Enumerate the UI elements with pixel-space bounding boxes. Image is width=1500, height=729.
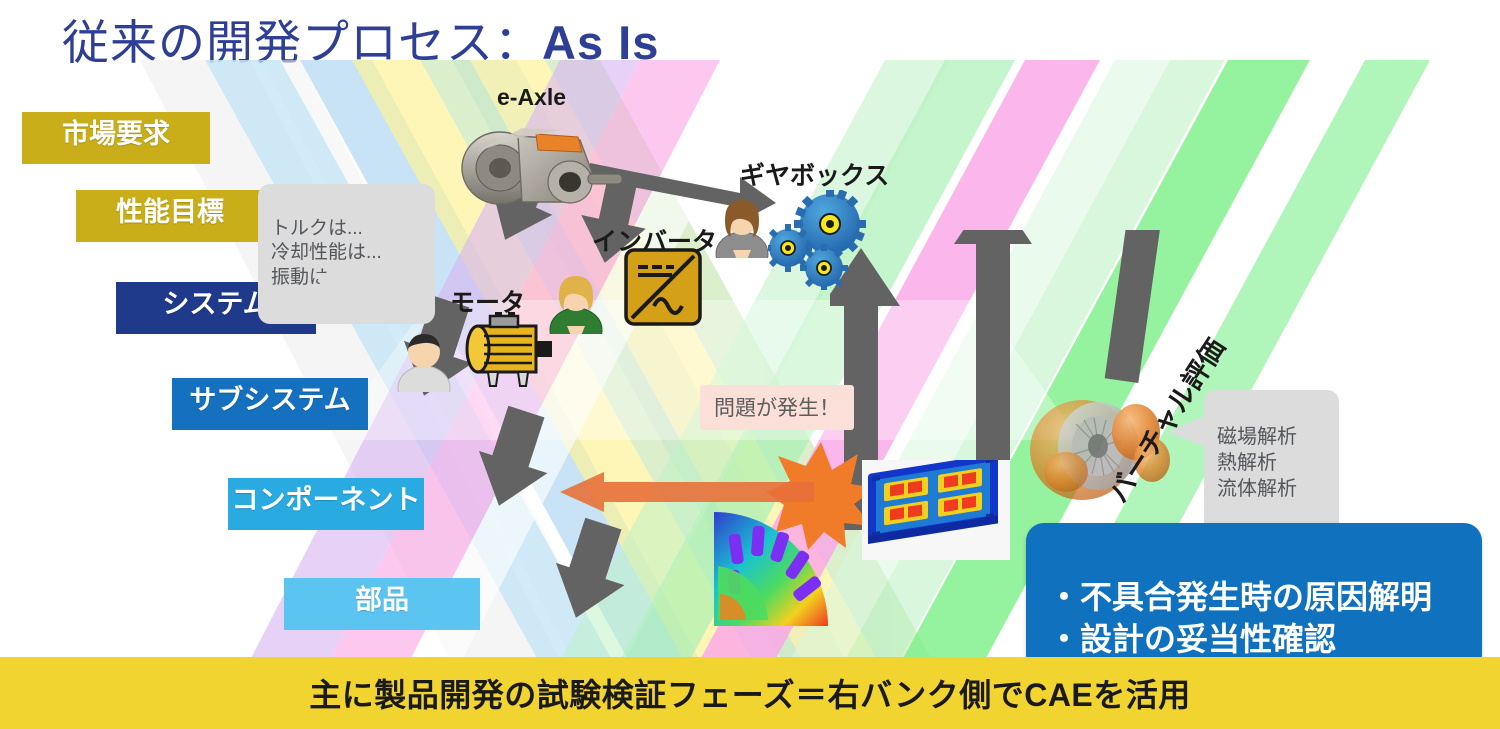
benefits-callout: ・不具合発生時の原因解明 ・設計の妥当性確認 xyxy=(1026,523,1482,673)
motor-icon xyxy=(462,310,562,390)
bubble-tail-icon xyxy=(316,273,362,321)
v-label-text: 性能目標 xyxy=(116,197,224,227)
avatar-engineer-woman-green xyxy=(548,272,604,334)
v-label-component[interactable]: コンポーネント xyxy=(228,478,424,530)
analysis-bubble: 磁場解析 熱解析 流体解析 xyxy=(1204,390,1339,537)
v-label-text: 市場要求 xyxy=(62,119,170,149)
analysis-bubble-text: 磁場解析 熱解析 流体解析 xyxy=(1217,426,1297,500)
v-label-text: サブシステム xyxy=(189,385,350,415)
v-label-text: システム xyxy=(162,289,269,319)
e-axle-image xyxy=(452,110,622,225)
problem-note: 問題が発生！ xyxy=(700,385,854,430)
e-axle-label-text: e-Axle xyxy=(497,84,566,110)
pcb-thermal-result-image xyxy=(862,460,1010,560)
requirements-bubble: トルクは... 冷却性能は... 振動は... xyxy=(258,184,435,324)
gearbox-label: ギヤボックス xyxy=(740,156,889,192)
v-label-text: 部品 xyxy=(355,585,409,615)
benefits-callout-text: ・不具合発生時の原因解明 ・設計の妥当性確認 xyxy=(1048,579,1432,658)
inverter-icon xyxy=(624,248,704,328)
v-label-market-requirement[interactable]: 市場要求 xyxy=(22,112,210,164)
avatar-engineer-man xyxy=(396,330,452,392)
summary-banner: 主に製品開発の試験検証フェーズ＝右バンク側でCAEを活用 xyxy=(0,657,1500,729)
gearbox-label-text: ギヤボックス xyxy=(740,162,889,190)
v-label-subsystem[interactable]: サブシステム xyxy=(172,378,368,430)
v-label-performance-target[interactable]: 性能目標 xyxy=(76,190,264,242)
v-label-text: コンポーネント xyxy=(232,485,421,515)
slide-canvas: 従来の開発プロセス：As Is xyxy=(0,0,1500,729)
summary-banner-text: 主に製品開発の試験検証フェーズ＝右バンク側でCAEを活用 xyxy=(309,670,1191,716)
avatar-engineer-woman-gray xyxy=(714,196,770,258)
v-label-part[interactable]: 部品 xyxy=(284,578,480,630)
motor-fea-result-image xyxy=(710,508,830,628)
problem-note-text: 問題が発生！ xyxy=(714,397,840,420)
bubble-tail-icon xyxy=(1168,414,1208,456)
e-axle-label: e-Axle xyxy=(497,84,566,111)
gear-icon xyxy=(768,190,898,290)
